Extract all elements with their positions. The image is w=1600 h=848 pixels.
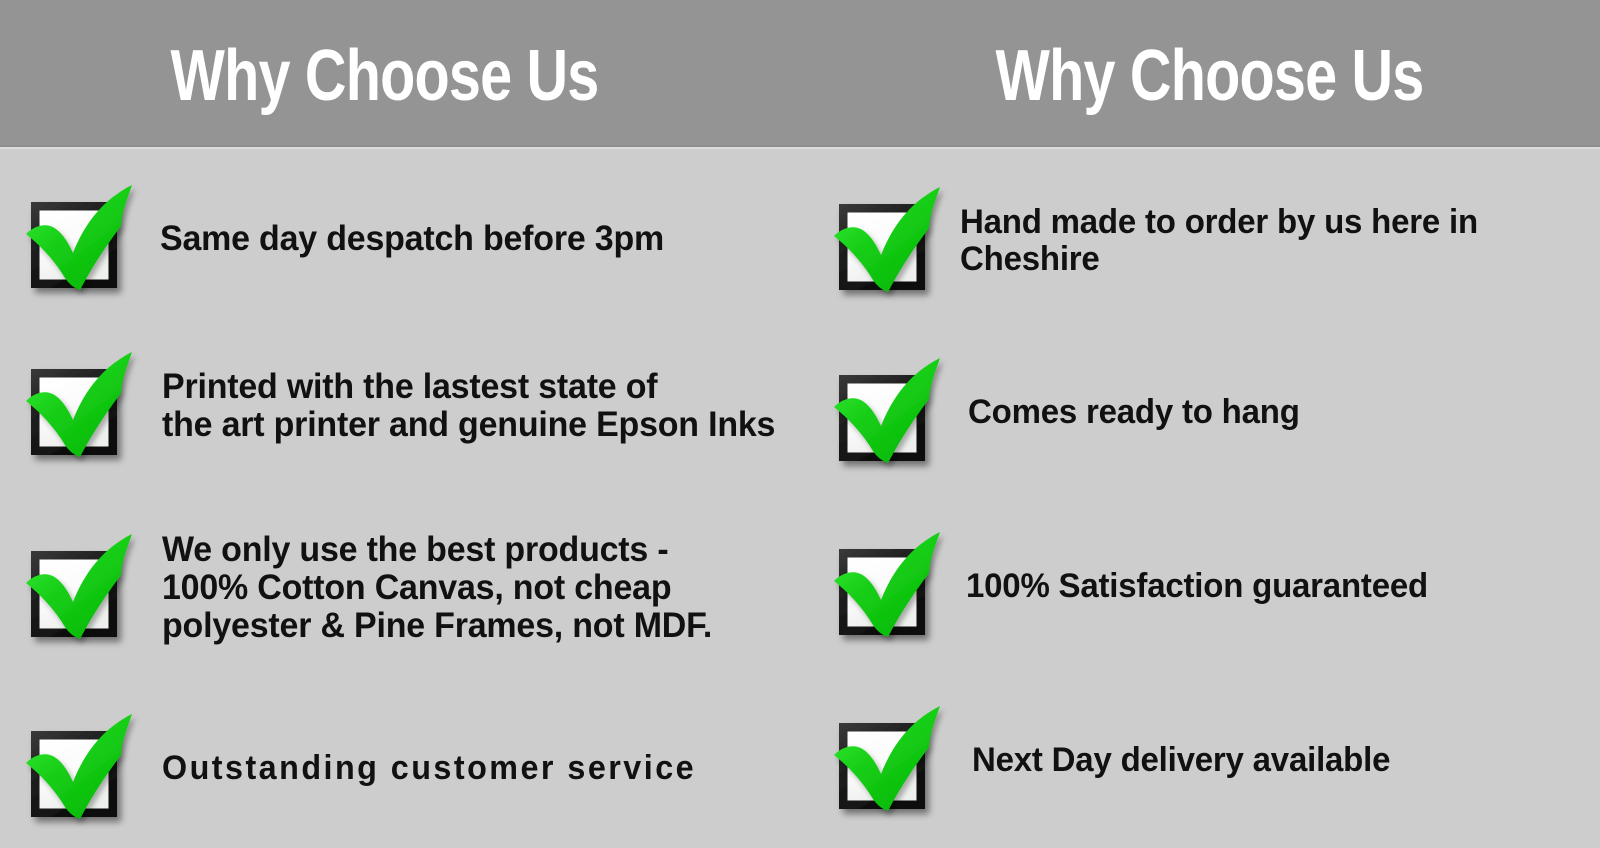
green-check-box-icon <box>830 353 948 471</box>
green-check-box-icon <box>22 180 140 298</box>
green-check-box-icon <box>22 347 140 465</box>
green-check-box-icon <box>830 353 948 471</box>
feature-text: 100% Satisfaction guaranteed <box>966 568 1428 605</box>
green-check-box-icon <box>830 527 948 645</box>
green-check-box-icon <box>22 709 140 827</box>
header-band: Why Choose Us Why Choose Us <box>0 0 1600 147</box>
green-check-box-icon <box>830 182 948 300</box>
feature-text: Hand made to order by us here in Cheshir… <box>960 204 1478 277</box>
green-check-box-icon <box>22 529 140 647</box>
green-check-box-icon <box>22 709 140 827</box>
green-check-box-icon <box>22 347 140 465</box>
feature-item: Next Day delivery available <box>830 675 1600 845</box>
feature-item: We only use the best products - 100% Cot… <box>22 488 800 688</box>
feature-item: Hand made to order by us here in Cheshir… <box>830 155 1600 327</box>
page-title-right: Why Choose Us <box>996 34 1424 112</box>
feature-text: Printed with the lastest state of the ar… <box>162 368 775 444</box>
green-check-box-icon <box>22 180 140 298</box>
green-check-box-icon <box>22 529 140 647</box>
green-check-box-icon <box>830 182 948 300</box>
feature-item: Same day despatch before 3pm <box>22 155 800 323</box>
green-check-box-icon <box>830 701 948 819</box>
feature-text: Same day despatch before 3pm <box>160 220 664 258</box>
header-cell-left: Why Choose Us <box>0 0 800 145</box>
feature-column-right: Hand made to order by us here in Cheshir… <box>800 147 1600 848</box>
green-check-box-icon <box>830 527 948 645</box>
feature-columns: Same day despatch before 3pm <box>0 147 1600 848</box>
feature-text: Comes ready to hang <box>968 394 1300 431</box>
feature-text: Outstanding customer service <box>162 750 696 787</box>
feature-item: Comes ready to hang <box>830 327 1600 497</box>
green-check-box-icon <box>830 701 948 819</box>
feature-item: Outstanding customer service <box>22 688 800 848</box>
feature-column-left: Same day despatch before 3pm <box>0 147 800 848</box>
feature-item: Printed with the lastest state of the ar… <box>22 323 800 488</box>
feature-item: 100% Satisfaction guaranteed <box>830 497 1600 675</box>
header-cell-right: Why Choose Us <box>800 0 1600 145</box>
page-title-left: Why Choose Us <box>171 34 599 112</box>
feature-text: We only use the best products - 100% Cot… <box>162 531 712 644</box>
feature-text: Next Day delivery available <box>972 742 1390 779</box>
why-choose-us-banner: Why Choose Us Why Choose Us <box>0 0 1600 840</box>
